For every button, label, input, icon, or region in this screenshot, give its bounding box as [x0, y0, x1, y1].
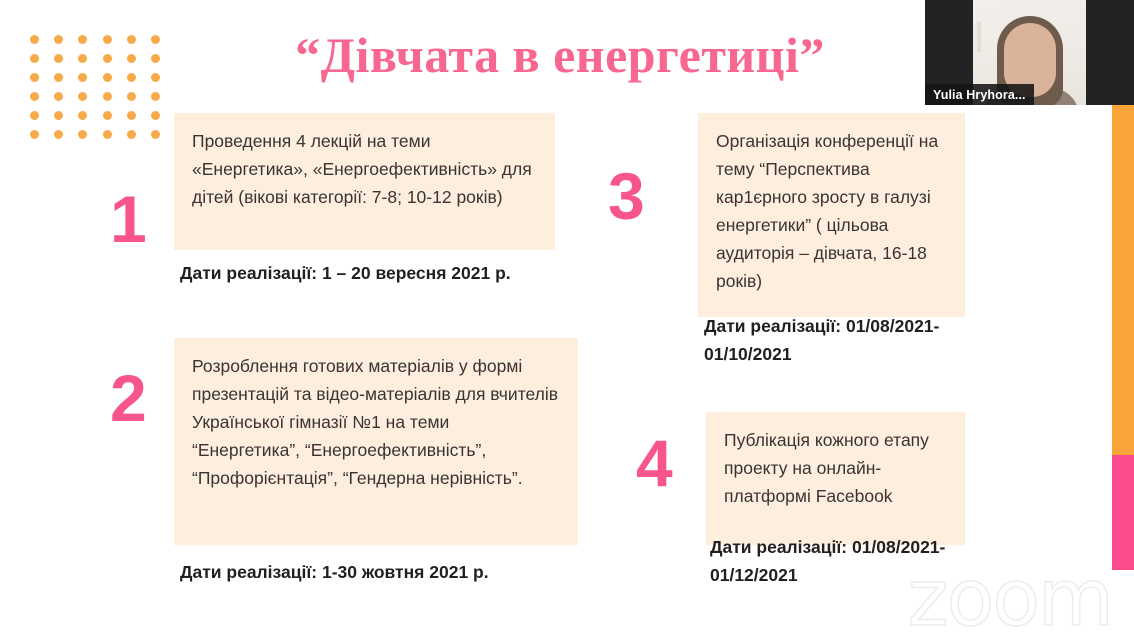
dot	[54, 73, 63, 82]
edge-bar-pink	[1112, 455, 1134, 570]
item-dates-1: Дати реалізації: 1 – 20 вересня 2021 р.	[180, 259, 550, 287]
dot	[54, 111, 63, 120]
item-box-1: Проведення 4 лекцій на теми «Енергетика»…	[174, 113, 555, 250]
dot-grid-decoration	[22, 30, 168, 144]
item-number-4: 4	[636, 430, 673, 496]
dot	[151, 54, 160, 63]
dot	[78, 35, 87, 44]
dot	[103, 54, 112, 63]
edge-bar-orange	[1112, 105, 1134, 455]
dot	[30, 35, 39, 44]
dot	[151, 35, 160, 44]
dot	[127, 92, 136, 101]
dot	[151, 73, 160, 82]
dot	[103, 73, 112, 82]
item-box-3: Організація конференції на тему “Перспек…	[698, 113, 965, 317]
dot	[30, 130, 39, 139]
dot	[30, 73, 39, 82]
dot	[30, 54, 39, 63]
dot	[127, 35, 136, 44]
dot	[78, 73, 87, 82]
item-dates-4: Дати реалізації: 01/08/2021-01/12/2021	[710, 533, 990, 589]
video-thumbnail-panel[interactable]: Yulia Hryhora...	[925, 0, 1134, 105]
dot	[103, 35, 112, 44]
dot	[103, 92, 112, 101]
dot	[54, 130, 63, 139]
dot	[127, 111, 136, 120]
item-number-2: 2	[110, 365, 147, 431]
presentation-slide: “Дівчата в енергетиці” 1 Проведення 4 ле…	[0, 0, 1134, 642]
dot	[30, 111, 39, 120]
dot	[127, 73, 136, 82]
dot	[54, 35, 63, 44]
participant-name-label: Yulia Hryhora...	[925, 84, 1034, 105]
item-number-1: 1	[110, 186, 147, 252]
dot	[78, 111, 87, 120]
dot	[30, 92, 39, 101]
item-box-2: Розроблення готових матеріалів у формі п…	[174, 338, 578, 545]
dot	[78, 92, 87, 101]
dot	[151, 111, 160, 120]
dot	[127, 54, 136, 63]
dot	[151, 130, 160, 139]
dot	[54, 54, 63, 63]
dot	[78, 130, 87, 139]
slide-title: “Дівчата в енергетиці”	[180, 24, 940, 86]
item-dates-2: Дати реалізації: 1-30 жовтня 2021 р.	[180, 558, 580, 586]
item-box-4: Публікація кожного етапу проекту на онла…	[706, 412, 965, 545]
item-dates-3: Дати реалізації: 01/08/2021- 01/10/2021	[704, 312, 984, 368]
dot	[54, 92, 63, 101]
dot	[103, 130, 112, 139]
dot	[127, 130, 136, 139]
dot	[78, 54, 87, 63]
background-wall-edge	[977, 22, 981, 52]
item-number-3: 3	[608, 163, 645, 229]
dot	[103, 111, 112, 120]
dot	[151, 92, 160, 101]
